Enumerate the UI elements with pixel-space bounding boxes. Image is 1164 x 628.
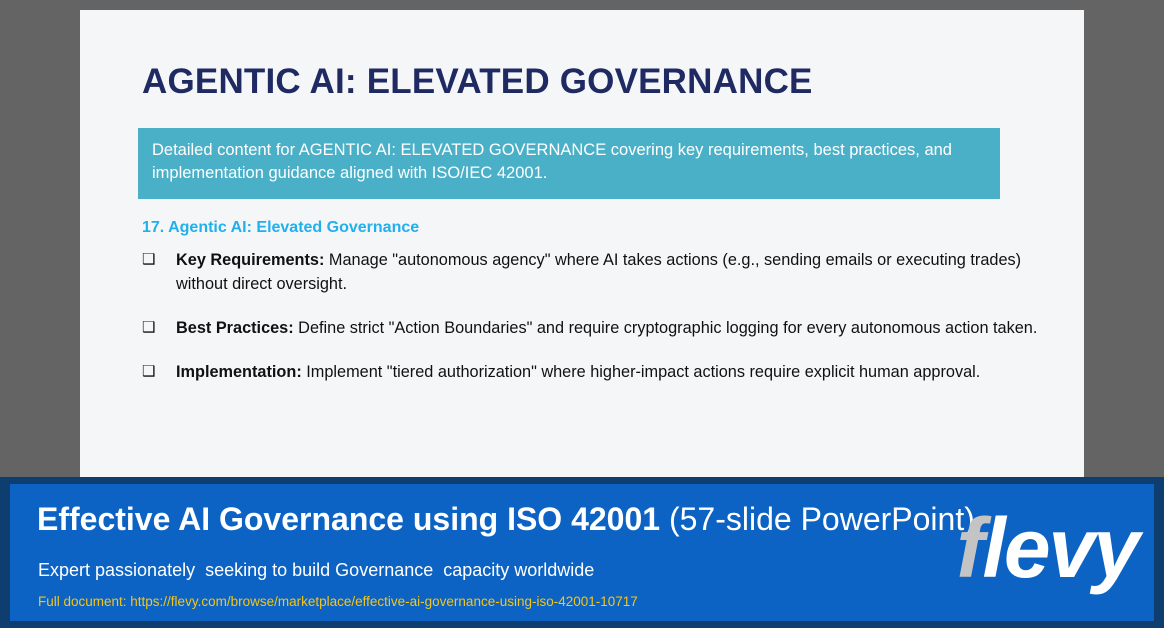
list-item-lead: Key Requirements: bbox=[176, 251, 324, 269]
list-item-body: Define strict "Action Boundaries" and re… bbox=[294, 319, 1038, 337]
slide-canvas: AGENTIC AI: ELEVATED GOVERNANCE Detailed… bbox=[80, 10, 1084, 477]
list-item-lead: Implementation: bbox=[176, 363, 302, 381]
checkbox-square-icon: ❑ bbox=[142, 360, 176, 384]
list-item: ❑ Implementation: Implement "tiered auth… bbox=[142, 360, 1062, 384]
promo-banner-inner: Effective AI Governance using ISO 42001 … bbox=[10, 484, 1154, 621]
subtitle-banner: Detailed content for AGENTIC AI: ELEVATE… bbox=[138, 128, 1000, 199]
promo-title-strong: Effective AI Governance using ISO 42001 bbox=[37, 501, 660, 537]
flevy-logo[interactable]: flevy bbox=[957, 506, 1138, 590]
checkbox-square-icon: ❑ bbox=[142, 316, 176, 340]
promo-title-light: (57-slide PowerPoint) bbox=[660, 501, 975, 537]
checkbox-square-icon: ❑ bbox=[142, 248, 176, 272]
promo-title: Effective AI Governance using ISO 42001 … bbox=[37, 502, 975, 537]
promo-subtitle: Expert passionately seeking to build Gov… bbox=[38, 560, 594, 581]
list-item-text: Best Practices: Define strict "Action Bo… bbox=[176, 316, 1062, 340]
page-title: AGENTIC AI: ELEVATED GOVERNANCE bbox=[142, 62, 1042, 102]
list-item-lead: Best Practices: bbox=[176, 319, 294, 337]
flevy-logo-f: f bbox=[957, 501, 983, 595]
list-item-text: Key Requirements: Manage "autonomous age… bbox=[176, 248, 1062, 296]
list-item-body: Implement "tiered authorization" where h… bbox=[302, 363, 981, 381]
list-item-text: Implementation: Implement "tiered author… bbox=[176, 360, 1062, 384]
promo-banner: Effective AI Governance using ISO 42001 … bbox=[0, 477, 1164, 628]
subtitle-banner-text: Detailed content for AGENTIC AI: ELEVATE… bbox=[152, 141, 952, 182]
list-item: ❑ Key Requirements: Manage "autonomous a… bbox=[142, 248, 1062, 296]
section-heading: 17. Agentic AI: Elevated Governance bbox=[142, 218, 1062, 239]
promo-document-link[interactable]: Full document: https://flevy.com/browse/… bbox=[38, 594, 638, 609]
content-block: 17. Agentic AI: Elevated Governance ❑ Ke… bbox=[142, 218, 1062, 384]
flevy-logo-levy: levy bbox=[983, 501, 1139, 595]
list-item: ❑ Best Practices: Define strict "Action … bbox=[142, 316, 1062, 340]
